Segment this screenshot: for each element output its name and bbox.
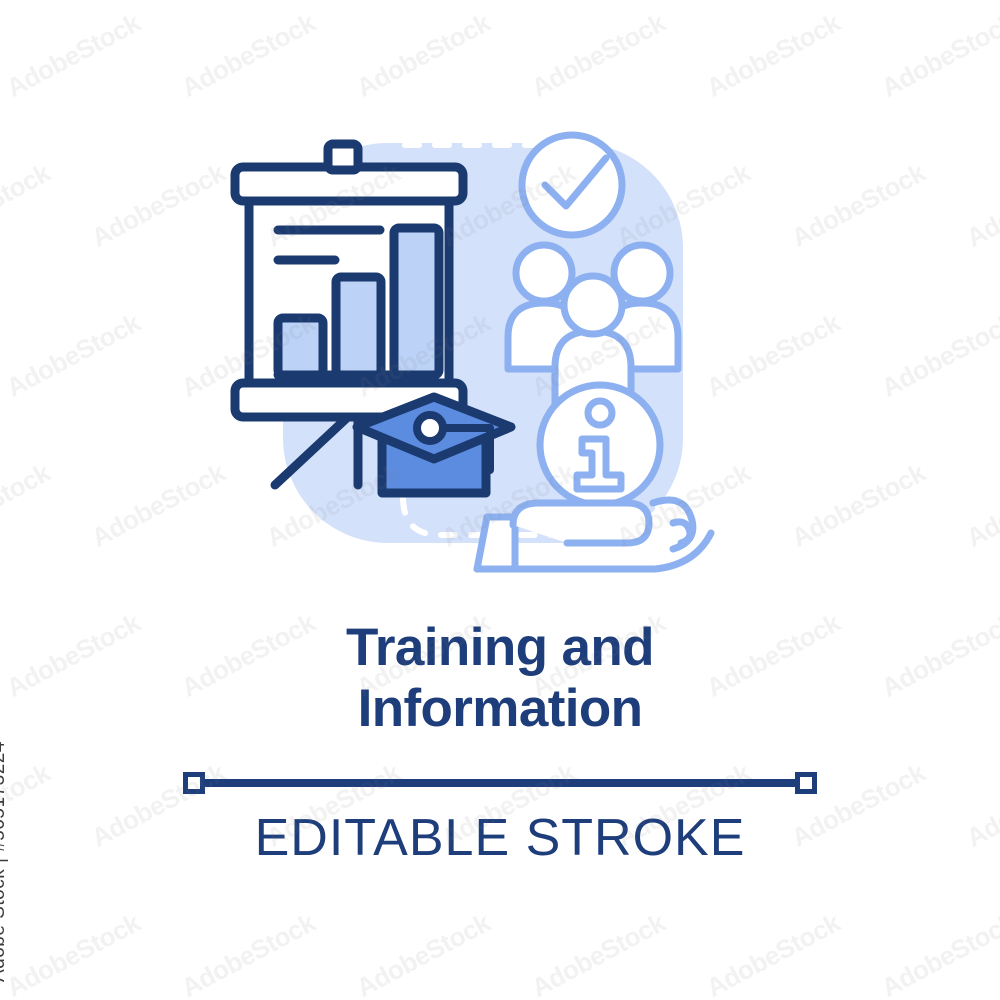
watermark-text: AdobeStock: [786, 157, 930, 253]
page-title-line-2: Information: [0, 678, 1000, 739]
watermark-text: AdobeStock: [0, 457, 55, 553]
check-circle: [522, 135, 622, 235]
info-dot: [588, 401, 612, 425]
hand-sleeve: [477, 517, 515, 569]
watermark-text: AdobeStock: [701, 7, 845, 103]
stroke-width-slider[interactable]: [183, 768, 817, 798]
watermark-text: AdobeStock: [526, 7, 670, 103]
stroke-slider-rail[interactable]: [197, 779, 803, 787]
watermark-text: AdobeStock: [1, 907, 145, 1000]
concept-icon-canvas: Training and Information EDITABLE STROKE…: [0, 0, 1000, 1000]
stroke-slider-handle-right[interactable]: [795, 772, 817, 794]
watermark-text: AdobeStock: [0, 157, 55, 253]
info-badge: [540, 385, 660, 505]
person-center-head: [564, 276, 622, 334]
page-title: Training and Information: [0, 617, 1000, 740]
illustration: [225, 125, 745, 595]
watermark-text: AdobeStock: [86, 157, 230, 253]
stroke-slider-handle-left[interactable]: [183, 772, 205, 794]
cap-button: [417, 415, 443, 441]
stock-credit-label: Adobe Stock | #505173224: [0, 741, 10, 982]
chart-bar-1: [278, 318, 323, 375]
chart-bar-2: [336, 277, 381, 375]
page-title-line-1: Training and: [0, 617, 1000, 678]
checkmark-badge: [522, 135, 622, 235]
watermark-text: AdobeStock: [876, 307, 1000, 403]
watermark-text: AdobeStock: [351, 907, 495, 1000]
watermark-text: AdobeStock: [961, 457, 1000, 553]
watermark-text: AdobeStock: [961, 157, 1000, 253]
watermark-text: AdobeStock: [1, 7, 145, 103]
watermark-text: AdobeStock: [1, 307, 145, 403]
watermark-text: AdobeStock: [876, 907, 1000, 1000]
editable-stroke-caption: EDITABLE STROKE: [0, 808, 1000, 868]
watermark-text: AdobeStock: [526, 907, 670, 1000]
watermark-text: AdobeStock: [351, 7, 495, 103]
watermark-text: AdobeStock: [176, 7, 320, 103]
board-knob: [328, 144, 358, 170]
watermark-text: AdobeStock: [876, 7, 1000, 103]
watermark-text: AdobeStock: [701, 907, 845, 1000]
watermark-text: AdobeStock: [176, 907, 320, 1000]
watermark-text: AdobeStock: [86, 457, 230, 553]
chart-bar-3: [394, 228, 439, 375]
watermark-text: AdobeStock: [786, 457, 930, 553]
